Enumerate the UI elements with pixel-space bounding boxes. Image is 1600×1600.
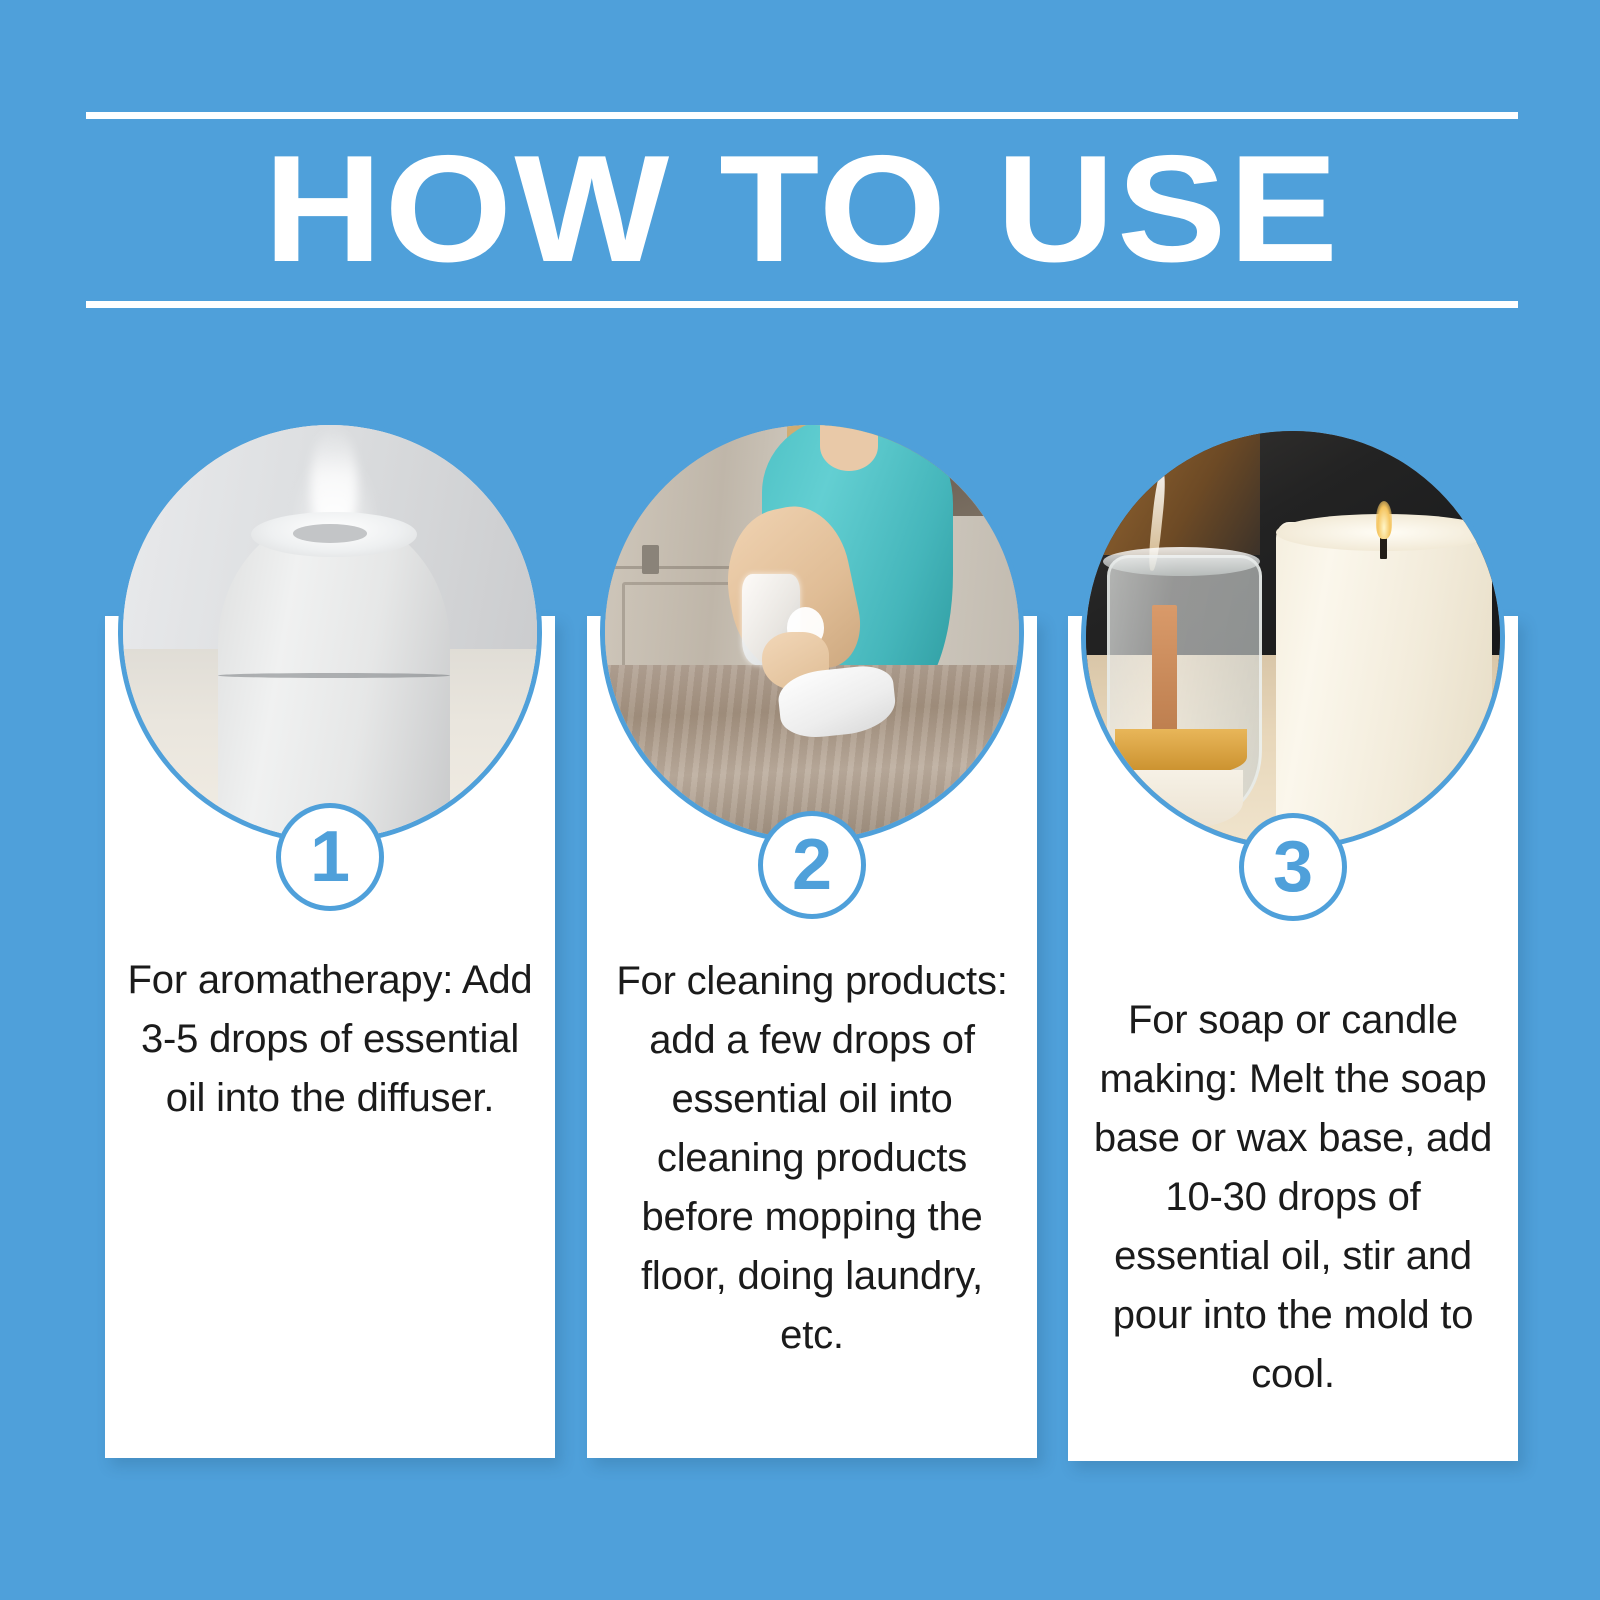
step-card-1: 1 For aromatherapy: Add 3-5 drops of ess… xyxy=(105,616,555,1458)
candle-photo xyxy=(1081,426,1505,850)
step-number-badge-1: 1 xyxy=(276,803,384,911)
step-card-2: 2 For cleaning products: add a few drops… xyxy=(587,616,1037,1458)
header: HOW TO USE xyxy=(86,112,1518,308)
step-description-3: For soap or candle making: Melt the soap… xyxy=(1090,991,1496,1404)
step-number-badge-3: 3 xyxy=(1239,813,1347,921)
page-title: HOW TO USE xyxy=(29,116,1576,302)
step-card-3: 3 For soap or candle making: Melt the so… xyxy=(1068,616,1518,1461)
cleaning-photo xyxy=(600,420,1024,844)
step-description-1: For aromatherapy: Add 3-5 drops of essen… xyxy=(127,951,533,1128)
diffuser-photo xyxy=(118,420,542,844)
step-number-badge-2: 2 xyxy=(758,811,866,919)
step-description-2: For cleaning products: add a few drops o… xyxy=(609,952,1015,1365)
title-rule-bottom xyxy=(86,301,1518,308)
infographic-page: HOW TO USE 1 For aromatherapy: Add 3-5 d… xyxy=(0,0,1600,1600)
